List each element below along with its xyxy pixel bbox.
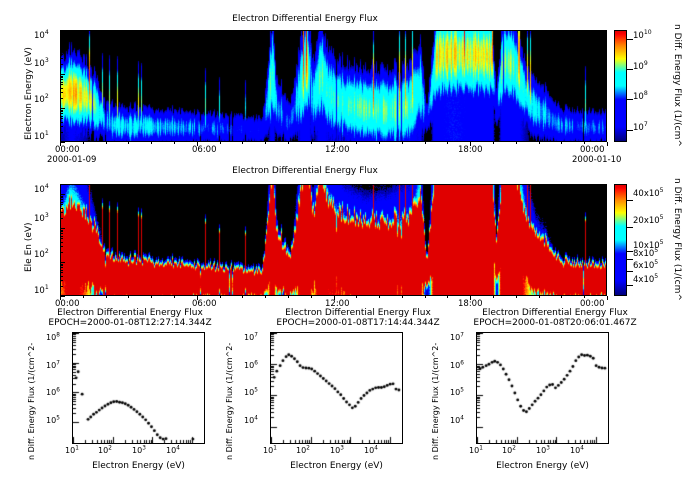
spectrogram-top-xminortick [356,142,357,144]
spectrum-left-ytick-6: 106 [46,388,60,397]
spectrogram-middle-xminortick [516,296,517,298]
spectrogram-top-ytickmark [60,76,63,77]
spectrogram-top-xtick-1: 06:00 [192,145,217,155]
spectrogram-middle-plot[interactable] [60,184,607,296]
spectrogram-top-ytickmark [60,126,63,127]
spectrogram-middle-xminortick [220,296,221,298]
spectrogram-middle-cbtick-6: 6x105 [633,261,658,271]
spectrogram-top-xtickmark-2 [334,142,335,146]
spectrogram-middle-xminortick [106,296,107,298]
spectrogram-middle-ytickmark [60,208,63,209]
spectrogram-top-xminortick [584,142,585,144]
spectrogram-top-ytick-3: 103 [34,59,49,69]
spectrogram-middle-ytickmark [60,230,63,231]
spectrogram-middle-cbtick-20: 20x105 [633,216,664,226]
spectrogram-top-ytickmark [60,132,63,133]
spectrum-middle-ytick-4: 104 [244,416,258,425]
spectrogram-middle-ytick-4: 104 [34,185,49,195]
spectrogram-top-ytickmark [60,79,63,80]
spectrogram-middle-ytickmark [60,270,63,271]
spectrogram-top-ytickmark [60,43,63,44]
spectrum-left-xtick-3: 103 [132,446,146,455]
spectrogram-top-ytickmark [60,110,63,111]
spectrogram-middle-ytickmark [60,242,63,243]
spectrogram-middle-ytickmark [60,252,63,253]
spectrogram-top-cblabel-wrap: n Diff. Energy Flux (1/(cm^ [682,24,697,34]
spectrum-left-xtick-2: 102 [98,446,112,455]
spectrogram-top-xtick-3: 18:00 [458,145,483,155]
spectrogram-middle-xminortick [151,296,152,298]
spectrogram-middle-ytickmark [60,267,63,268]
spectrogram-middle-xminortick [311,296,312,298]
spectrogram-top-xminortick [128,142,129,144]
spectrogram-top-cbtickmark-2 [627,99,633,100]
spectrogram-middle-cbtick-4: 4x105 [633,275,658,285]
spectrogram-middle-ylabel: Ele En (eV) [24,222,34,272]
spectrogram-top-xtick-4: 00:00 [580,145,605,155]
spectrogram-top-ylabel: Electron Energy (eV) [24,47,34,140]
spectrum-left-xtick-4: 104 [166,446,180,455]
spectrogram-top-xtick-0: 00:00 [55,145,80,155]
spectrogram-top-ytickmark [60,92,63,93]
spectrogram-middle-xminortick [425,296,426,298]
spectrum-middle-ylabel: n Diff. Energy Flux (1/(cm^2- [225,343,234,460]
spectrum-middle-plot[interactable] [270,332,403,444]
spectrogram-top-ytickmark [60,50,63,51]
spectrogram-middle-cbtickmark-4 [627,271,633,272]
spectrogram-middle-xminortick [83,296,84,298]
spectrogram-middle-ytick-3: 103 [34,214,49,224]
spectrogram-middle-cblabel: n Diff. Energy Flux (1/(cm^ [672,178,682,301]
spectrum-left-ytick-5: 105 [46,416,60,425]
spectrogram-middle-ytickmark [60,236,63,237]
spectrogram-middle-xminortick [128,296,129,298]
spectrogram-top-cblabel: n Diff. Energy Flux (1/(cm^ [672,24,682,147]
spectrogram-top-ytickmark [60,108,65,109]
spectrum-middle-ytick-5: 105 [244,388,258,397]
spectrogram-top-cbtickmark-0 [627,39,633,40]
spectrum-right-xtick-3: 103 [536,446,550,455]
spectrogram-middle-xminortick [493,296,494,298]
spectrogram-top-xminortick [402,142,403,144]
spectrogram-top-plot[interactable] [60,30,607,142]
spectrogram-middle-cbtickmark-5 [627,285,633,286]
spectrogram-middle-xminortick [242,296,243,298]
spectrogram-top-xminortick [288,142,289,144]
spectrum-left-ytick-8: 108 [46,333,60,342]
spectrum-right-ytick-7: 107 [450,333,464,342]
spectrogram-top-ytickmark [60,74,65,75]
spectrogram-middle-ytickmark [60,199,63,200]
spectrogram-top-ytickmark [60,77,63,78]
spectrogram-middle-ytickmark [60,262,65,263]
spectrogram-top-ytick-4: 104 [34,31,49,41]
spectrogram-middle-cbtick-8: 8x105 [633,249,658,259]
spectrum-right-xtick-4: 104 [570,446,584,455]
spectrogram-top-cbtick-8: 108 [633,92,648,102]
spectrogram-middle-cbtickmark-0 [627,200,633,201]
spectrum-right-ylabel: n Diff. Energy Flux (1/(cm^2- [431,343,440,460]
spectrum-right-xtick-1: 101 [469,446,483,455]
spectrogram-middle-xtickmark-4 [607,296,608,300]
spectrogram-middle-ytickmark [60,218,63,219]
spectrogram-top-ytickmark [60,142,65,143]
spectrogram-top-xtickmark-1 [197,142,198,146]
spectrum-left-ylabel: n Diff. Energy Flux (1/(cm^2- [27,343,36,460]
spectrogram-top-ytickmark [60,98,63,99]
spectrogram-top-cbtickmark-1 [627,69,633,70]
spectrum-middle-xtick-3: 103 [330,446,344,455]
spectrogram-top-cbtick-9: 109 [633,62,648,72]
spectrogram-middle-cbtickmark-1 [627,227,633,228]
spectrum-left-subtitle: EPOCH=2000-01-08T12:27:14.344Z [20,318,240,328]
spectrogram-top-cbtick-10: 1010 [633,31,652,41]
spectrogram-middle-ytick-1: 101 [34,286,49,296]
spectrogram-middle-xminortick [539,296,540,298]
spectrogram-middle-colorbar[interactable] [614,184,627,296]
spectrogram-middle-xminortick [174,296,175,298]
spectrogram-top-ytickmark [60,58,63,59]
spectrogram-top-ytickmark [60,111,63,112]
spectrum-right-ytick-5: 105 [450,388,464,397]
spectrogram-middle-ytickmark [60,265,63,266]
spectrogram-top-xdate-left: 2000-01-09 [47,155,96,165]
spectrogram-top-ytick-2: 102 [34,95,49,105]
spectrum-right-plot[interactable] [476,332,609,444]
spectrogram-middle-xminortick [288,296,289,298]
spectrogram-middle-xtickmark-3 [470,296,471,300]
spectrum-left-plot[interactable] [72,332,205,444]
spectrum-middle-xtick-2: 102 [296,446,310,455]
spectrogram-top-xminortick [379,142,380,144]
spectrogram-top-colorbar[interactable] [614,30,627,142]
spectrogram-middle-ytickmark [60,280,63,281]
spectrogram-middle-xminortick [402,296,403,298]
spectrum-left-xtick-1: 101 [65,446,79,455]
spectrogram-middle-xminortick [447,296,448,298]
spectrogram-middle-xminortick [561,296,562,298]
spectrogram-middle-ytickmark [60,233,63,234]
spectrum-left-title: Electron Differential Energy Flux [30,308,230,318]
spectrogram-top-ytickmark [60,40,65,41]
spectrum-middle-xtick-4: 104 [364,446,378,455]
spectrogram-top-xminortick [220,142,221,144]
spectrum-right-xlabel: Electron Energy (eV) [476,461,609,471]
spectrogram-middle-ytickmark [60,196,63,197]
spectrogram-middle-ytickmark [60,197,63,198]
spectrogram-middle-ytickmark [60,238,63,239]
spectrogram-middle-xminortick [379,296,380,298]
spectrogram-middle-ytickmark [60,228,65,229]
spectrogram-top-xdate-right: 2000-01-10 [572,155,621,165]
spectrogram-top-ytickmark [60,84,63,85]
spectrogram-top-ytickmark [60,42,63,43]
spectrogram-top-title: Electron Differential Energy Flux [60,14,550,24]
spectrogram-top-ytickmark [60,54,63,55]
spectrogram-top-xminortick [311,142,312,144]
spectrum-right-ytick-6: 106 [450,361,464,370]
spectrum-right-xtick-2: 102 [502,446,516,455]
spectrogram-middle-ytickmark [60,212,63,213]
spectrogram-top-xminortick [516,142,517,144]
spectrogram-middle-ytickmark [60,202,63,203]
spectrogram-top-ytickmark [60,45,63,46]
spectrogram-middle-xminortick [265,296,266,298]
spectrum-middle-ytick-6: 106 [244,361,258,370]
spectrogram-middle-ytickmark [60,272,63,273]
spectrogram-top-cbtickmark-3 [627,130,633,131]
spectrogram-middle-ylabel-wrap: Ele En (eV) [24,272,74,282]
spectrum-left-ytick-7: 107 [46,361,60,370]
spectrogram-middle-xminortick [584,296,585,298]
spectrogram-top-xminortick [425,142,426,144]
spectrum-middle-xlabel: Electron Energy (eV) [270,461,403,471]
spectrogram-middle-cblabel-wrap: n Diff. Energy Flux (1/(cm^ [682,178,697,188]
spectrogram-top-ytickmark [60,82,63,83]
spectrogram-middle-ytickmark [60,276,63,277]
spectrogram-middle-cbtickmark-3 [627,259,633,260]
spectrogram-top-ytickmark [60,116,63,117]
spectrogram-middle-ytickmark [60,264,63,265]
spectrogram-top-xminortick [174,142,175,144]
spectrogram-middle-ytickmark [60,204,63,205]
spectrum-middle-ytick-7: 107 [244,333,258,342]
spectrum-right-ytick-4: 104 [450,416,464,425]
spectrogram-top-xtickmark-3 [470,142,471,146]
spectrogram-top-xminortick [242,142,243,144]
spectrogram-top-xminortick [539,142,540,144]
spectrogram-middle-cbtick-40: 40x105 [633,189,664,199]
spectrum-left-xlabel: Electron Energy (eV) [72,461,205,471]
spectrogram-middle-ytickmark [60,246,63,247]
spectrogram-top-xminortick [265,142,266,144]
spectrogram-middle-ytickmark [60,231,63,232]
spectrogram-top-xminortick [106,142,107,144]
spectrogram-top-ytickmark [60,118,63,119]
spectrum-middle-title: Electron Differential Energy Flux [258,308,458,318]
spectrum-right-title: Electron Differential Energy Flux [455,308,655,318]
spectrogram-top-ytickmark [60,88,63,89]
spectrogram-top-ytickmark [60,122,63,123]
spectrogram-top-ytickmark [60,113,63,114]
spectrogram-middle-xtickmark-2 [334,296,335,300]
spectrogram-middle-xtickmark-1 [197,296,198,300]
spectrogram-middle-ytick-2: 102 [34,250,49,260]
spectrogram-top-ytick-1: 101 [34,132,49,142]
spectrum-right-subtitle: EPOCH=2000-01-08T20:06:01.467Z [450,318,660,328]
spectrogram-top-ytickmark [60,64,63,65]
spectrum-middle-xtick-1: 101 [263,446,277,455]
spectrogram-top-xtick-2: 12:00 [325,145,350,155]
spectrogram-middle-xminortick [356,296,357,298]
spectrogram-top-xminortick [83,142,84,144]
spectrogram-top-cbtick-7: 107 [633,123,648,133]
spectrogram-top-xminortick [561,142,562,144]
spectrogram-middle-ytickmark [60,296,65,297]
spectrogram-top-xminortick [151,142,152,144]
spectrogram-middle-ytickmark [60,286,63,287]
spectrogram-top-xminortick [493,142,494,144]
spectrogram-top-xminortick [447,142,448,144]
spectrogram-middle-cbtickmark-2 [627,251,633,252]
spectrogram-middle-ytickmark [60,194,65,195]
spectrogram-middle-title: Electron Differential Energy Flux [60,166,550,176]
spectrum-middle-subtitle: EPOCH=2000-01-08T17:14:44.344Z [248,318,468,328]
spectrogram-top-ytickmark [60,48,63,49]
spectrogram-top-xtickmark-4 [607,142,608,146]
